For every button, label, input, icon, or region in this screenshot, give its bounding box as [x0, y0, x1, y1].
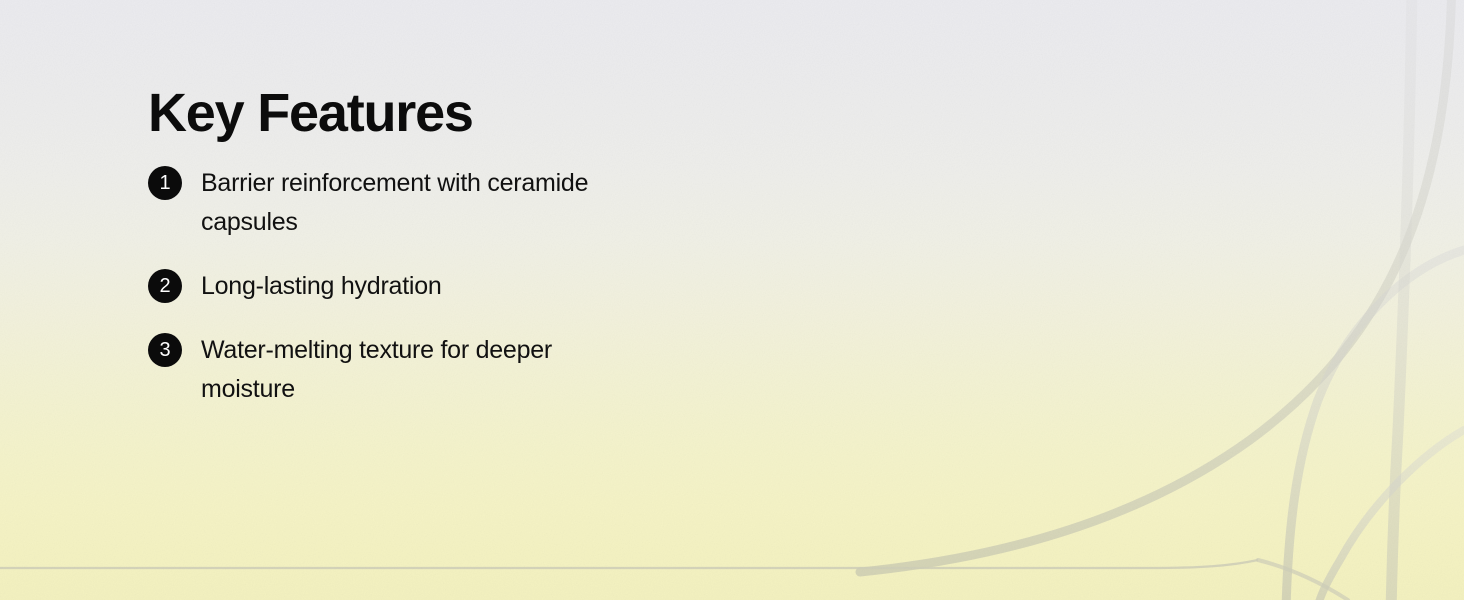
- list-item: 2 Long-lasting hydration: [148, 267, 768, 306]
- page-title: Key Features: [148, 84, 768, 142]
- feature-text-2: Long-lasting hydration: [201, 267, 442, 306]
- feature-text-3: Water-melting texture for deeper moistur…: [201, 331, 601, 409]
- list-item: 3 Water-melting texture for deeper moist…: [148, 331, 768, 409]
- content-block: Key Features 1 Barrier reinforcement wit…: [148, 84, 768, 387]
- feature-list: 1 Barrier reinforcement with ceramide ca…: [148, 164, 768, 409]
- number-badge-1: 1: [148, 166, 182, 200]
- key-features-banner: Key Features 1 Barrier reinforcement wit…: [0, 0, 1464, 600]
- feature-text-1: Barrier reinforcement with ceramide caps…: [201, 164, 601, 242]
- list-item: 1 Barrier reinforcement with ceramide ca…: [148, 164, 768, 242]
- number-badge-2: 2: [148, 269, 182, 303]
- number-badge-3: 3: [148, 333, 182, 367]
